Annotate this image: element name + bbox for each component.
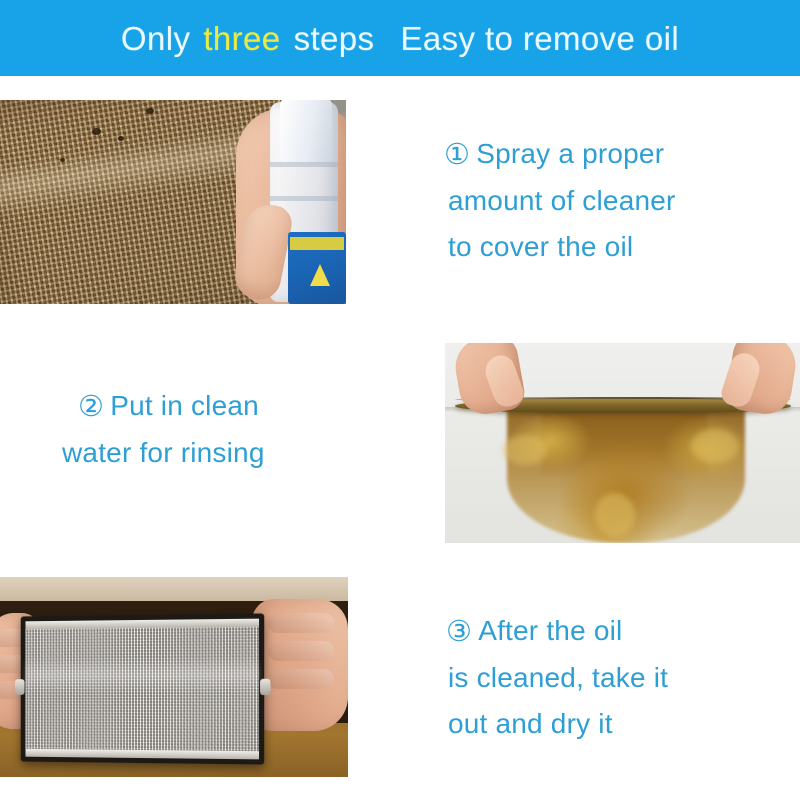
banner-word-steps: steps [294,20,375,57]
grease-speck [146,108,154,114]
step-1-line-2: amount of cleaner [448,178,676,224]
infographic-page: OnlythreestepsEasy to remove oil ①Spray … [0,0,800,800]
photo-clean-filter [0,577,348,777]
step-3-text-line-1: After the oil [478,615,622,646]
right-hand [252,599,348,731]
circled-one-icon: ① [444,139,470,171]
step-2-line-2: water for rinsing [62,430,265,476]
step-3-line-3: out and dry it [448,701,668,747]
clean-filter-frame [21,613,265,764]
photo-rinse-in-water [445,343,800,543]
step-3-line-2: is cleaned, take it [448,655,668,701]
step-1-text-line-1: Spray a proper [476,138,664,169]
step-1-line-3: to cover the oil [448,224,676,270]
step-3-text: ③After the oil is cleaned, take it out a… [446,608,668,747]
grease-speck [118,136,124,141]
label-warning-mark [310,264,330,286]
step-2-text-line-1: Put in clean [110,390,259,421]
bottle-ring [270,196,338,201]
circled-two-icon: ② [78,391,104,423]
bottle-label [288,232,346,304]
finger [268,641,334,661]
grease-wisp [691,429,739,463]
step-2-text: ②Put in clean water for rinsing [78,383,265,476]
banner-tagline: Easy to remove oil [400,20,679,57]
label-band [290,237,344,250]
grease-speck [92,128,101,135]
banner-title: OnlythreestepsEasy to remove oil [121,22,679,55]
finger [268,669,334,689]
spray-bottle-cap [280,100,332,164]
step-1-text: ①Spray a proper amount of cleaner to cov… [444,131,676,270]
banner-word-three: three [203,20,280,57]
step-3-line-1: ③After the oil [446,608,668,655]
wall-band [0,577,348,601]
circled-three-icon: ③ [446,616,472,648]
grease-speck [60,158,65,162]
filter-rail-bottom [26,749,260,760]
bottle-ring [270,162,338,167]
header-banner: OnlythreestepsEasy to remove oil [0,0,800,76]
finger [268,613,334,633]
mesh-highlight [26,656,260,693]
photo-spray-cleaner [0,100,346,304]
grease-wisp [595,493,635,537]
filter-handle-left [15,679,25,695]
step-1-line-1: ①Spray a proper [444,131,676,178]
grease-wisp [503,435,547,465]
filter-handle-right [260,679,270,695]
step-2-line-1: ②Put in clean [78,383,265,430]
banner-word-only: Only [121,20,190,57]
